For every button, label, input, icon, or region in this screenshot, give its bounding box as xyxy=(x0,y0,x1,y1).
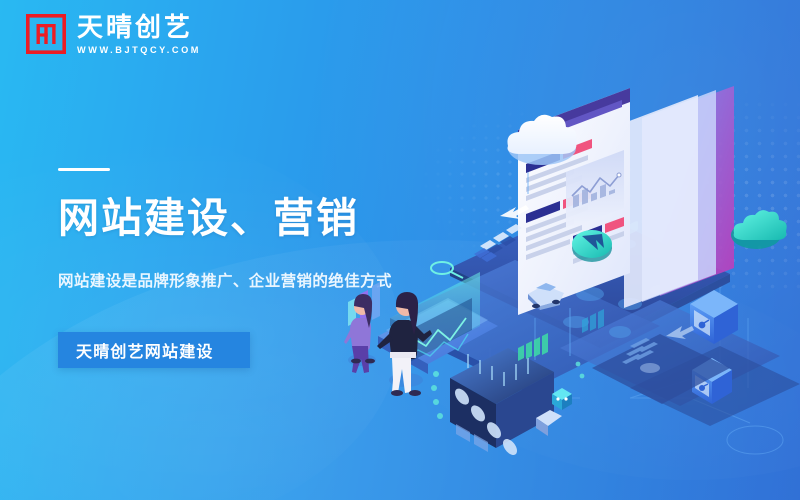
isometric-illustration xyxy=(330,68,800,468)
cloud-teal-icon xyxy=(731,210,787,249)
brand-logo-text: 天晴创艺 WWW.BJTQCY.COM xyxy=(77,14,201,55)
brand-url: WWW.BJTQCY.COM xyxy=(77,45,201,55)
accent-divider xyxy=(58,168,110,171)
robot-icon xyxy=(552,388,572,410)
brand-name: 天晴创艺 xyxy=(77,14,201,42)
hero-banner: 天晴创艺 WWW.BJTQCY.COM 网站建设、营销 网站建设是品牌形象推广、… xyxy=(0,0,800,500)
cta-button[interactable]: 天晴创艺网站建设 xyxy=(58,332,250,368)
tqcy-square-logo-icon xyxy=(26,14,66,54)
arrow-circle-badge-icon xyxy=(572,230,612,262)
brand-logo[interactable]: 天晴创艺 WWW.BJTQCY.COM xyxy=(26,14,201,55)
